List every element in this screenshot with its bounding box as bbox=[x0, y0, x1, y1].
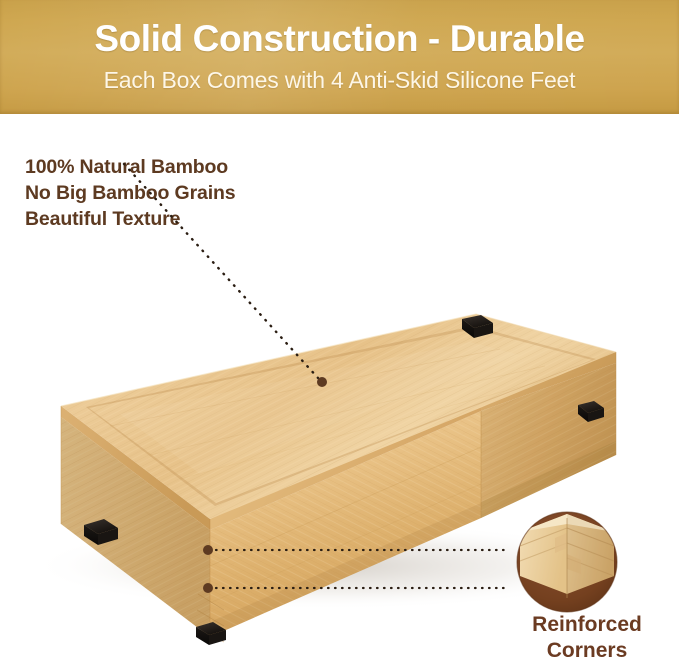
leader-line-feature bbox=[124, 164, 327, 387]
product-illustration bbox=[0, 114, 679, 662]
reinforced-corner-inset bbox=[517, 512, 617, 612]
banner-title: Solid Construction - Durable bbox=[0, 18, 679, 60]
header-banner: Solid Construction - Durable Each Box Co… bbox=[0, 0, 679, 114]
body-area: 100% Natural Bamboo No Big Bamboo Grains… bbox=[0, 114, 679, 662]
infographic-canvas: Solid Construction - Durable Each Box Co… bbox=[0, 0, 679, 662]
banner-subtitle: Each Box Comes with 4 Anti-Skid Silicone… bbox=[0, 67, 679, 94]
